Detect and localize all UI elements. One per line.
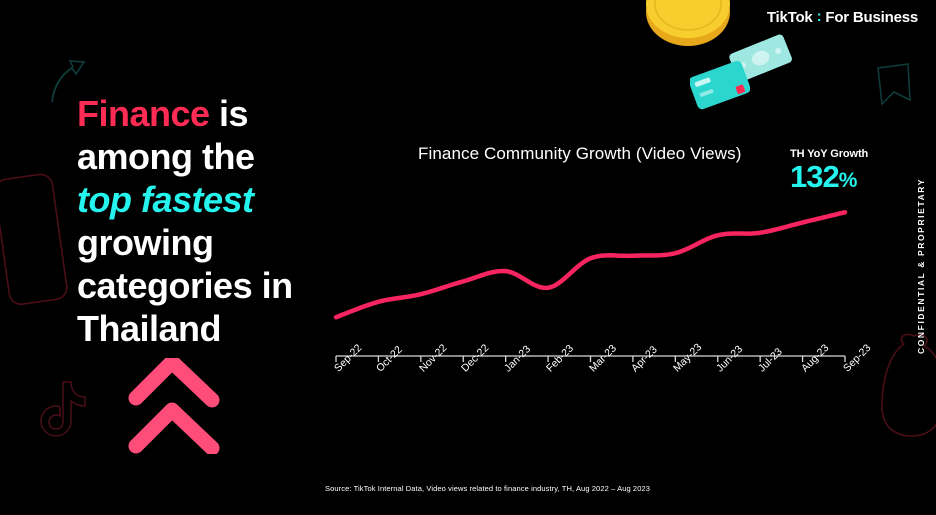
phone-outline-icon — [0, 170, 72, 310]
headline-line-1: Finance is — [77, 92, 377, 135]
headline-line-2: among the — [77, 135, 377, 178]
credit-card-icon — [690, 60, 750, 112]
money-bag-outline-icon — [878, 330, 936, 440]
bookmark-outline-icon — [872, 60, 914, 108]
brand-name: TikTok — [767, 9, 813, 26]
double-chevron-up-icon — [128, 358, 220, 454]
headline-line-1-rest: is — [210, 93, 249, 134]
headline-highlight-finance: Finance — [77, 93, 210, 134]
gold-coin-icon — [640, 0, 736, 50]
brand-suffix: For Business — [825, 9, 918, 26]
series-line-video-views — [336, 212, 845, 317]
slide-canvas: TikTok : For Business Finance is among t… — [0, 0, 936, 515]
source-note: Source: TikTok Internal Data, Video view… — [325, 484, 650, 493]
banknote-icon — [728, 33, 794, 85]
confidential-watermark: CONFIDENTIAL & PROPRIETARY — [916, 178, 926, 354]
brand-separator: : — [817, 9, 822, 24]
chart-title: Finance Community Growth (Video Views) — [418, 144, 741, 164]
tiktok-note-outline-icon — [38, 378, 94, 440]
tiktok-for-business-logo: TikTok : For Business — [767, 9, 918, 26]
line-chart: Sep-22Oct-22Nov-22Dec-22Jan-23Feb-23Mar-… — [320, 180, 865, 380]
